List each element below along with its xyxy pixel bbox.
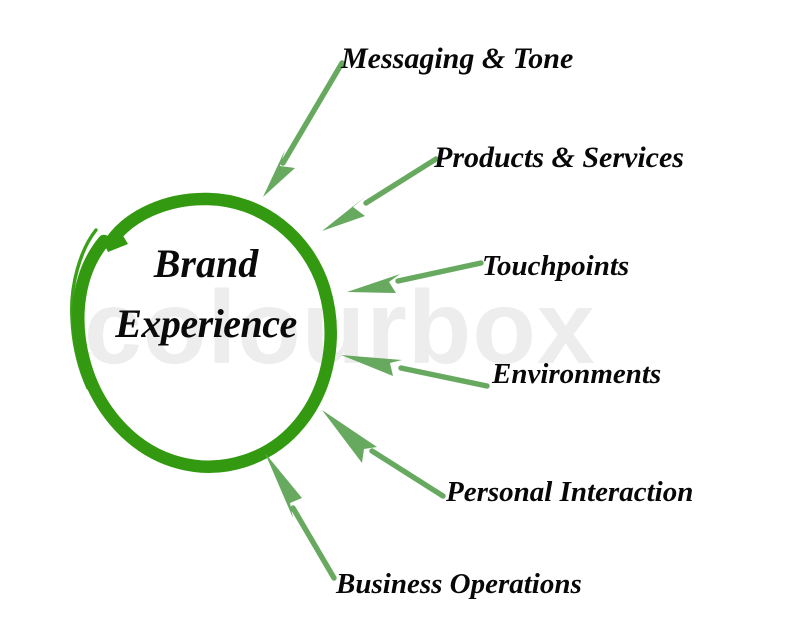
arrow-personal <box>322 410 443 496</box>
arrow-touchpoints <box>347 263 481 293</box>
arrow-environments <box>341 355 487 386</box>
center-node-line-2: Experience <box>78 304 334 344</box>
arrow-products <box>322 159 436 231</box>
center-node-text: Brand Experience <box>78 244 334 344</box>
node-label-environments: Environments <box>492 360 661 389</box>
node-label-personal: Personal Interaction <box>446 478 693 507</box>
center-node-line-1: Brand <box>78 244 334 284</box>
arrow-business <box>265 453 334 578</box>
arrow-messaging <box>263 63 342 197</box>
node-label-products: Products & Services <box>434 143 684 173</box>
diagram-canvas: colourbox <box>0 0 800 644</box>
node-label-business: Business Operations <box>336 570 582 599</box>
node-label-touchpoints: Touchpoints <box>482 252 629 281</box>
node-label-messaging: Messaging & Tone <box>341 44 573 74</box>
